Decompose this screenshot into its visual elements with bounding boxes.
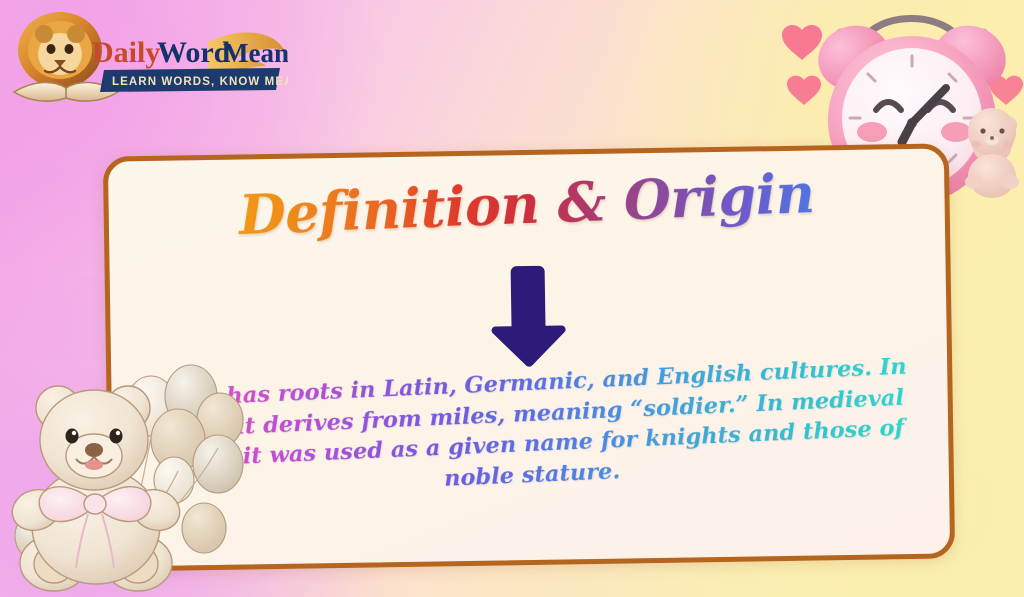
lion-mascot-icon: [18, 12, 102, 88]
logo-brand-part1: Daily: [92, 36, 160, 69]
heart-icon: [787, 76, 821, 105]
site-logo[interactable]: Daily Word Meaning LEARN WORDS, KNOW MEA…: [8, 6, 288, 114]
poster-canvas: Definition & Origin Miles has roots in L…: [0, 0, 1024, 597]
logo-brand-part3: Meaning: [223, 38, 288, 68]
logo-tagline: LEARN WORDS, KNOW MEANINGS: [112, 76, 288, 88]
heart-icon: [782, 25, 822, 60]
down-arrow-icon: [486, 261, 572, 370]
logo-brand-part2: Word: [157, 36, 231, 69]
teddy-bear-decoration: [6, 358, 256, 597]
